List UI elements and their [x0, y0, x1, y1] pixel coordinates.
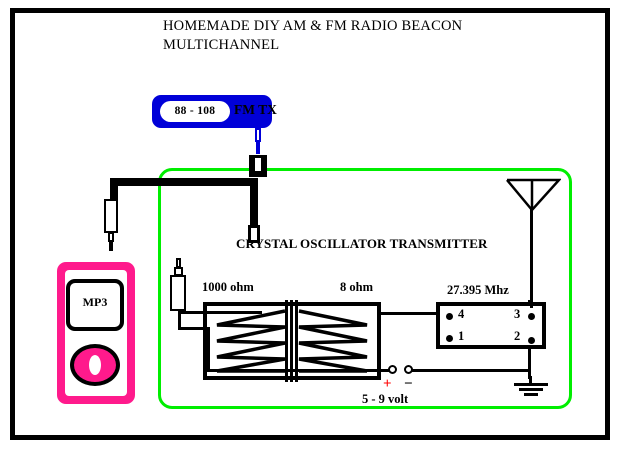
fm-plug-tip-icon: [256, 141, 260, 154]
title-line-1: HOMEMADE DIY AM & FM RADIO BEACON: [163, 17, 583, 36]
pin-1-dot-icon: [446, 335, 453, 342]
pin-3-dot-icon: [528, 313, 535, 320]
transformer-input-wire-lower: [178, 327, 210, 330]
battery-voltage-label: 5 - 9 volt: [362, 392, 408, 407]
fm-module-label: FM TX: [234, 102, 277, 118]
mp3-screen-label: MP3: [66, 295, 124, 310]
transformer-secondary-coil-icon: [297, 305, 377, 377]
transformer-secondary-label: 8 ohm: [340, 280, 373, 295]
power-rail-right: [405, 369, 531, 372]
battery-positive-terminal: [388, 365, 397, 374]
ground-symbol-icon: [512, 376, 550, 400]
oscillator-frequency-label: 27.395 Mhz: [447, 283, 509, 298]
audio-cable-horizontal: [110, 178, 258, 186]
audio-jack-socket-hole: [255, 158, 261, 171]
transformer-input-wire-top: [178, 311, 262, 314]
pin-3-number: 3: [514, 307, 520, 322]
antenna-icon: [505, 178, 561, 308]
cable-connector-hole: [251, 228, 257, 240]
battery-plus-symbol: +: [383, 377, 392, 392]
transformer-input-wire-vertical: [207, 327, 210, 371]
wire-pin2-to-ground: [528, 347, 531, 379]
audio-cable-right-drop: [250, 178, 258, 226]
page-title: HOMEMADE DIY AM & FM RADIO BEACON MULTIC…: [163, 17, 583, 55]
circuit-section-title: CRYSTAL OSCILLATOR TRANSMITTER: [236, 236, 488, 252]
mp3-plug-body-icon: [104, 199, 118, 233]
antenna-mast: [530, 208, 533, 308]
battery-negative-terminal: [404, 365, 413, 374]
transformer-primary-label: 1000 ohm: [202, 280, 254, 295]
mp3-click-wheel-center-button[interactable]: [89, 355, 101, 375]
pin-2-dot-icon: [528, 337, 535, 344]
pin-2-number: 2: [514, 329, 520, 344]
title-line-2: MULTICHANNEL: [163, 36, 583, 55]
input-plug-body-icon: [170, 275, 186, 311]
fm-transmitter-module[interactable]: 88 - 108 FM TX: [152, 95, 272, 128]
fm-frequency-display: 88 - 108: [160, 101, 230, 122]
transformer-primary-coil-icon: [207, 305, 287, 377]
fm-plug-shaft-icon: [255, 128, 261, 142]
wire-secondary-to-pin4: [381, 312, 438, 315]
pin-4-number: 4: [458, 307, 464, 322]
mp3-plug-tip-icon: [109, 241, 113, 251]
power-rail-left: [207, 369, 391, 372]
audio-cable-left-drop: [110, 178, 118, 200]
pin-4-dot-icon: [446, 313, 453, 320]
diagram-canvas: HOMEMADE DIY AM & FM RADIO BEACON MULTIC…: [0, 0, 622, 451]
pin-1-number: 1: [458, 329, 464, 344]
battery-minus-symbol: −: [404, 377, 413, 392]
